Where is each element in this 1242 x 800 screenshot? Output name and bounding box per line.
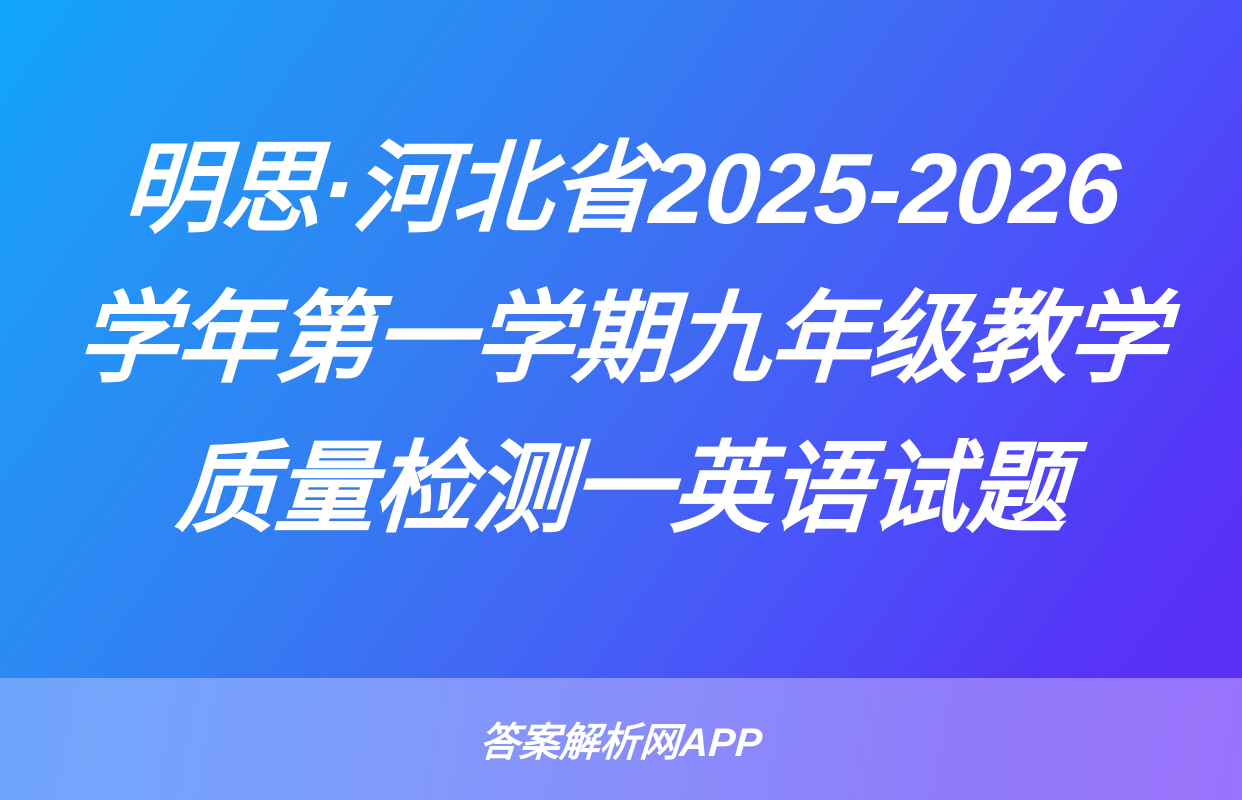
watermark-app-label: 答案解析网APP (478, 710, 764, 768)
watermark-banner: 答案解析网APP (0, 678, 1242, 800)
title-block: 明思·河北省2025-2026 学年第一学期九年级教学 质量检测一英语试题 (0, 0, 1242, 678)
title-line-2: 学年第一学期九年级教学 (73, 264, 1170, 414)
title-line-3: 质量检测一英语试题 (172, 414, 1071, 564)
title-line-1: 明思·河北省2025-2026 (119, 114, 1123, 264)
poster-root: 明思·河北省2025-2026 学年第一学期九年级教学 质量检测一英语试题 答案… (0, 0, 1242, 800)
